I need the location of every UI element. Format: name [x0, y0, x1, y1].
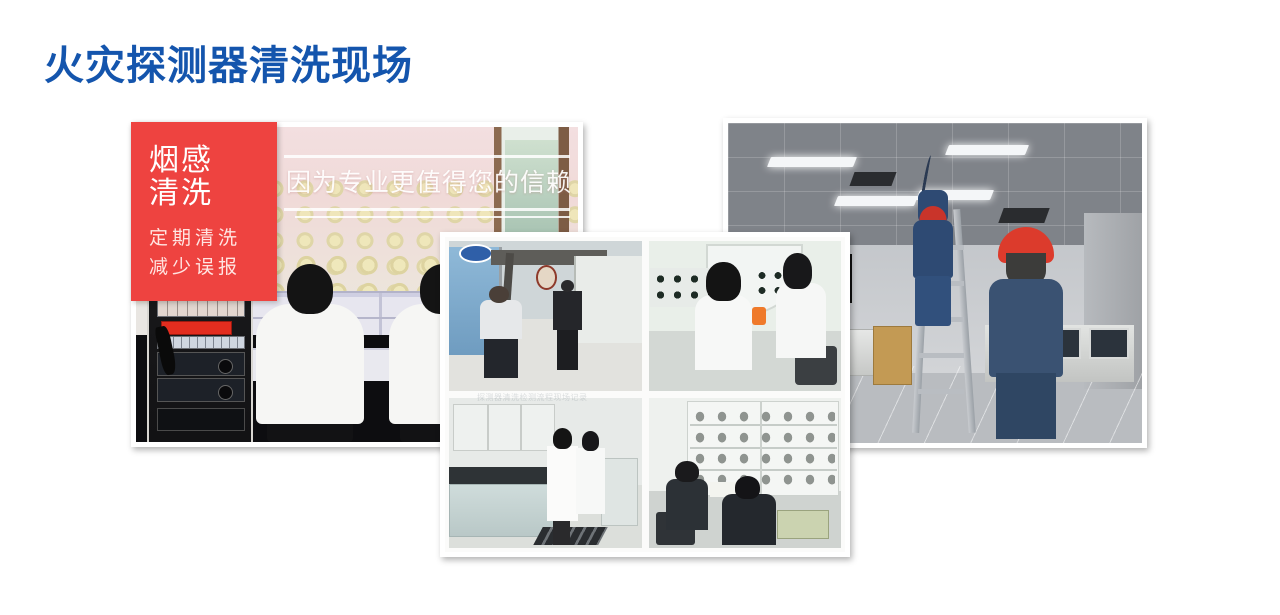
- worker-b-head: [735, 476, 760, 499]
- display-panel: [157, 408, 244, 431]
- worker-with-red-helmet: [985, 227, 1067, 437]
- promo-banner[interactable]: 烟感 清洗 定期清洗 减少误报: [131, 122, 277, 301]
- technician-a-head: [553, 428, 572, 449]
- collage-cell-wash-station[interactable]: [449, 398, 642, 548]
- console-screen: [1089, 328, 1129, 358]
- uniform-jacket: [989, 279, 1063, 377]
- photo-inner: 探测器清洗检测流程现场记录: [445, 237, 845, 552]
- uniform-trousers: [996, 373, 1056, 439]
- promo-subline-1: 定期清洗: [149, 224, 277, 253]
- person-a-legs: [484, 336, 519, 378]
- technician-a-coat: [547, 446, 578, 521]
- knob-icon: [218, 359, 233, 374]
- emblem-icon: [459, 244, 494, 263]
- uniform-jacket: [913, 220, 953, 278]
- technician-b-coat: [776, 283, 826, 358]
- round-sign-icon: [536, 265, 557, 290]
- ceiling-light-icon: [945, 145, 1029, 155]
- ceiling-vent: [850, 172, 897, 186]
- worker-a-uniform: [666, 479, 708, 530]
- stored-detectors: [689, 404, 835, 491]
- technician-b-coat: [576, 448, 605, 514]
- technician-a-coat: [695, 295, 753, 370]
- test-instrument: [777, 510, 829, 539]
- instrument-panel-2: [157, 378, 244, 401]
- lab-coat: [256, 304, 364, 424]
- person-b-shirt: [553, 291, 582, 330]
- side-door: [601, 458, 638, 526]
- wall-cabinets: [453, 404, 555, 451]
- technician-a-legs: [553, 518, 570, 545]
- knob-icon: [218, 385, 233, 400]
- person-b-legs: [557, 328, 578, 370]
- person-a-shirt: [480, 300, 522, 339]
- technician-b-head: [582, 431, 599, 451]
- red-indicator-strip: [161, 321, 232, 334]
- technician-b-head: [783, 253, 812, 289]
- collage-faint-caption: 探测器清洗检测流程现场记录: [477, 393, 725, 403]
- page-title: 火灾探测器清洗现场: [44, 33, 413, 91]
- work-bench-top: [449, 467, 561, 485]
- promo-headline-line2: 清洗: [149, 177, 277, 210]
- cleaning-workflow-collage[interactable]: 探测器清洗检测流程现场记录: [440, 232, 850, 557]
- ladder-step: [918, 353, 964, 358]
- worker-on-ladder: [906, 184, 960, 324]
- poster-page: 火灾探测器清洗现场: [0, 0, 1280, 615]
- orange-tool-icon: [752, 307, 765, 325]
- technician-a-head: [706, 262, 741, 301]
- collage-cell-fire-door[interactable]: [449, 241, 642, 391]
- person-a-head: [489, 286, 508, 303]
- floor-rail: [533, 527, 608, 545]
- ladder-step: [918, 389, 964, 394]
- uniform-trousers: [915, 276, 951, 326]
- worker-a-head: [675, 461, 698, 482]
- person-b-head: [561, 280, 574, 292]
- promo-headline-line1: 烟感: [149, 144, 277, 177]
- ceiling-vent: [999, 208, 1050, 223]
- fire-alarm-control-cabinet: [147, 278, 253, 442]
- collage-cell-storage-rack[interactable]: [649, 398, 842, 548]
- head: [287, 264, 333, 314]
- background-room: [574, 256, 641, 343]
- ceiling-light-icon: [767, 157, 857, 167]
- promo-subline-2: 减少误报: [149, 253, 277, 282]
- worker-b-uniform: [722, 494, 776, 545]
- collage-cell-test-bench[interactable]: [649, 241, 842, 391]
